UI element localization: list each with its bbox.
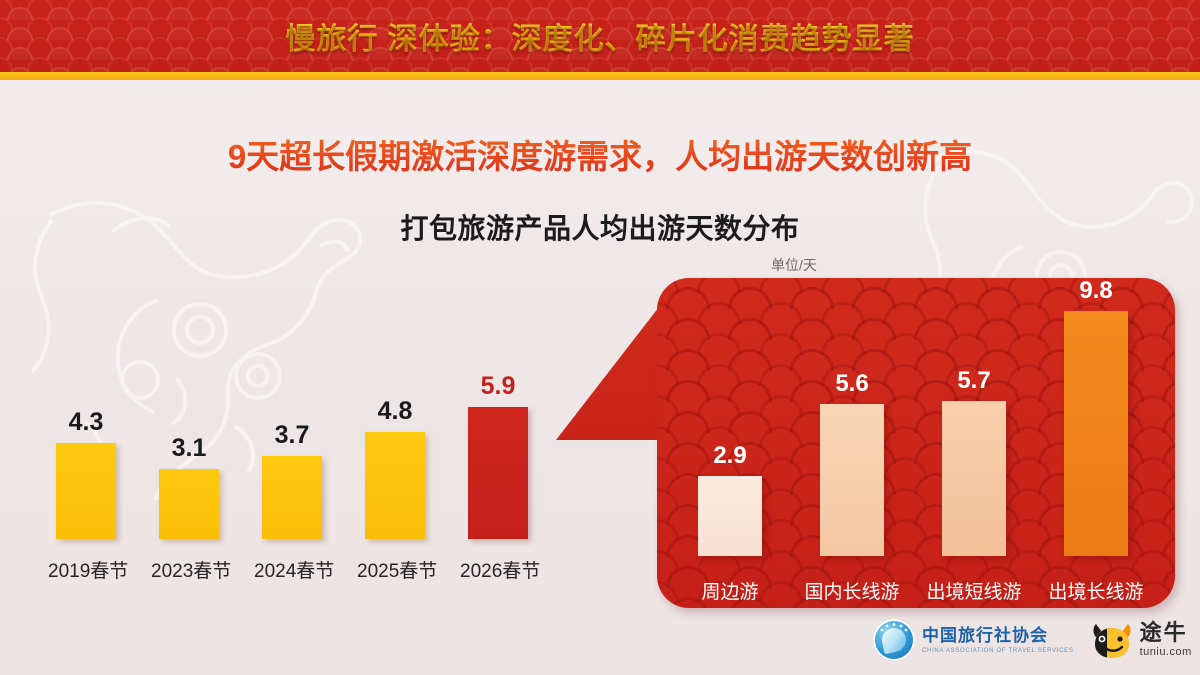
spring-festival-trend-chart: 4.3 2019春节 3.1 2023春节 3.7 2024春节 4.8 202… [48,360,608,585]
bar-category-label: 出境短线游 [915,577,1033,604]
bar-value-label: 3.1 [151,434,227,463]
bar-rect [942,401,1006,556]
bar-rect [56,443,116,539]
globe-icon [873,619,915,661]
association-logo: 中国旅行社协会 CHINA ASSOCIATION OF TRAVEL SERV… [873,619,1074,661]
association-name-cn: 中国旅行社协会 [922,627,1074,644]
bar-category-label: 国内长线游 [793,577,911,604]
brand-text: 途牛 tuniu.com [1140,622,1192,658]
footer-logos: 中国旅行社协会 CHINA ASSOCIATION OF TRAVEL SERV… [873,614,1193,666]
bar-category-label: 2024春节 [254,556,330,583]
infographic-canvas: 慢旅行 深体验：深度化、碎片化消费趋势显著 9天超长假期激活深度游需求，人均出游… [0,0,1200,675]
header-gold-rule [0,72,1200,80]
bar-value-label: 5.7 [915,367,1033,395]
bar-category-label: 2025春节 [357,556,433,583]
bar-rect [262,456,322,539]
stars-arc-icon [873,619,915,661]
bar-category-label: 2026春节 [460,556,536,583]
bar-value-label: 4.8 [357,397,433,426]
bar-value-label: 9.8 [1037,278,1155,305]
bar-rect [698,476,762,556]
association-text: 中国旅行社协会 CHINA ASSOCIATION OF TRAVEL SERV… [922,627,1074,654]
unit-label: 单位/天 [714,255,874,275]
brand-name-en: tuniu.com [1140,647,1192,658]
bar-value-label: 5.9 [460,372,536,401]
bar-value-label: 5.6 [793,370,911,398]
bar-rect [1064,311,1128,556]
brand-logo: 途牛 tuniu.com [1090,620,1192,660]
trip-type-breakdown-chart: 2.9 周边游 5.6 国内长线游 5.7 出境短线游 9.8 出境长线游 [657,278,1175,608]
bar-category-label: 2023春节 [151,556,227,583]
page-headline: 9天超长假期激活深度游需求，人均出游天数创新高 [0,130,1200,178]
bar-value-label: 2.9 [671,442,789,470]
bar-value-label: 4.3 [48,408,124,437]
cow-icon [1090,620,1134,660]
banner-title: 慢旅行 深体验：深度化、碎片化消费趋势显著 [0,0,1200,72]
chart-title: 打包旅游产品人均出游天数分布 [0,207,1200,247]
bar-rect [365,432,425,539]
bar-category-label: 出境长线游 [1037,577,1155,604]
bar-category-label: 2019春节 [48,556,124,583]
bar-category-label: 周边游 [671,577,789,604]
bar-rect [159,469,219,539]
bar-value-label: 3.7 [254,421,330,450]
association-name-en: CHINA ASSOCIATION OF TRAVEL SERVICES [922,648,1074,654]
bar-rect [820,404,884,556]
callout-panel: 2.9 周边游 5.6 国内长线游 5.7 出境短线游 9.8 出境长线游 [657,278,1175,608]
brand-name-cn: 途牛 [1140,622,1192,644]
bar-rect [468,407,528,539]
